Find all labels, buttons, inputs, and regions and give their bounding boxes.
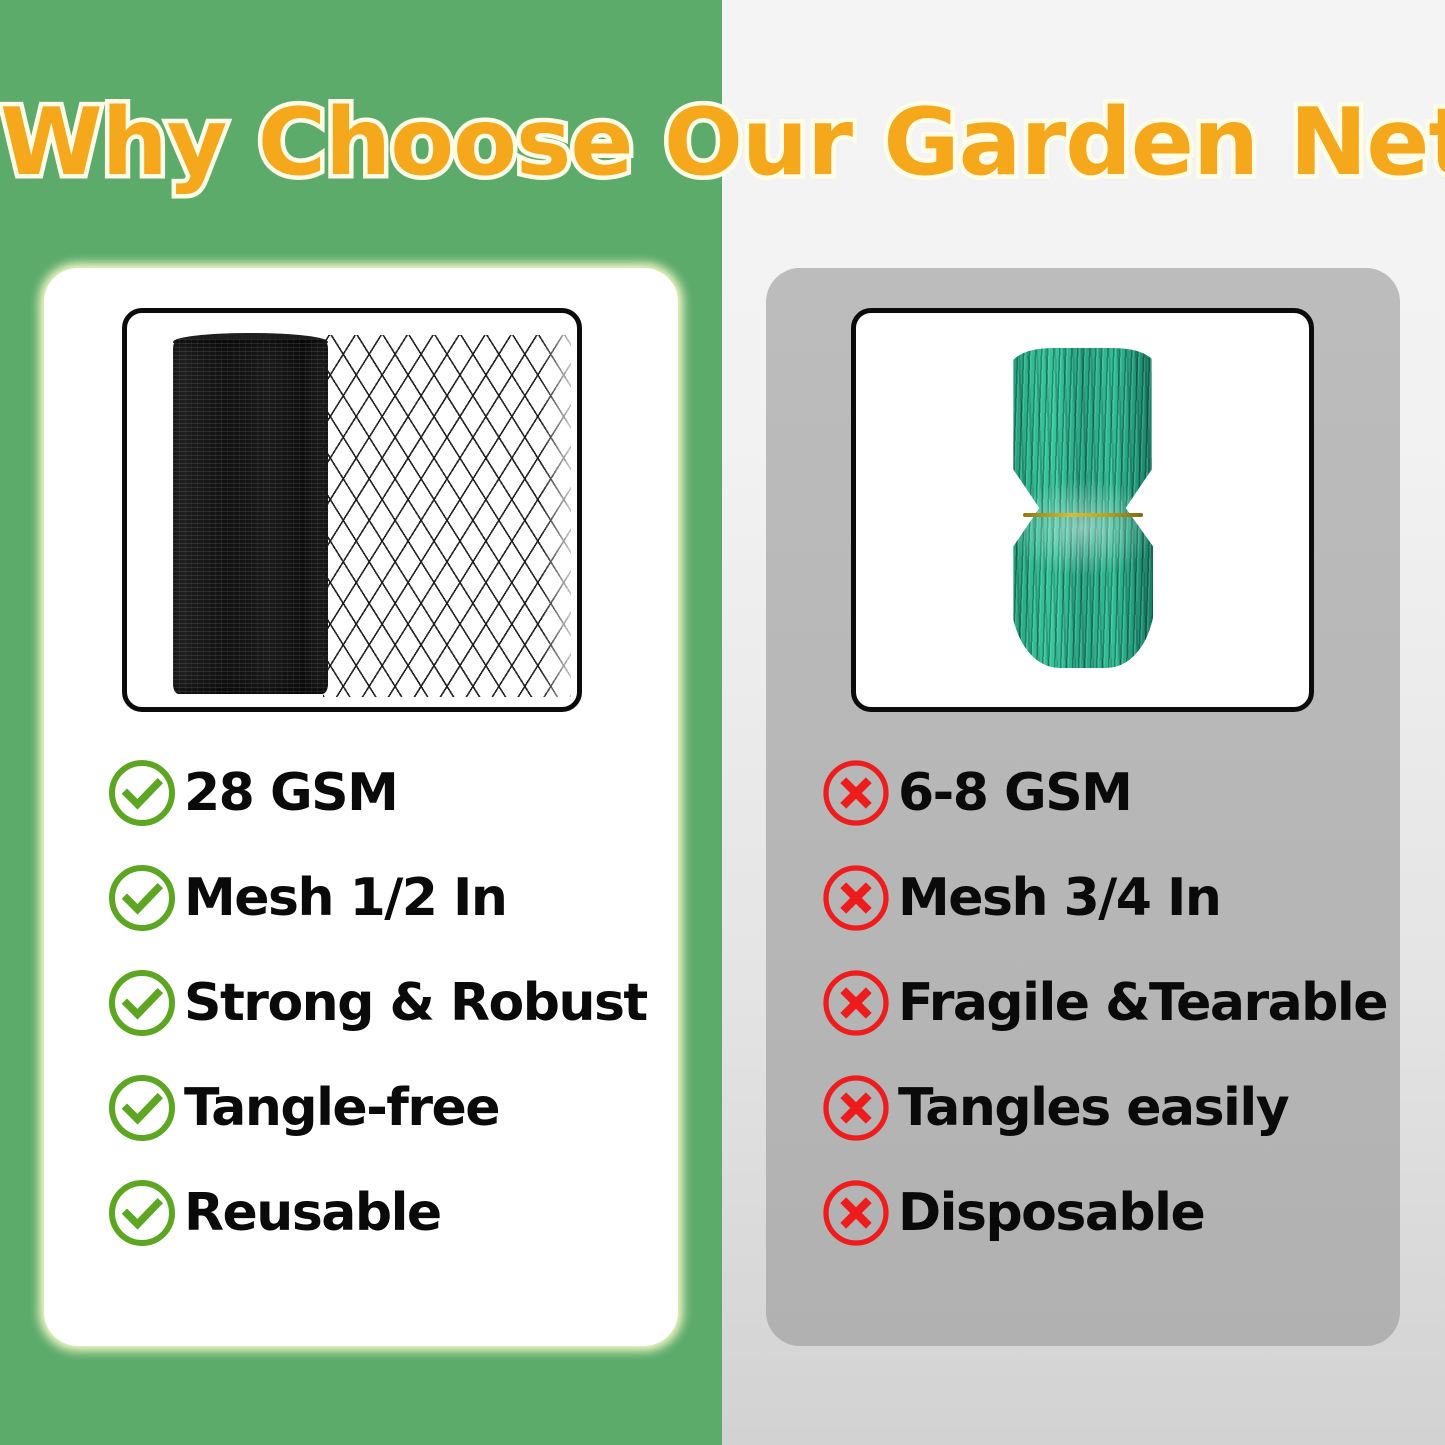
competitor-product-card: 6-8 GSM Mesh 3/4 In Fr bbox=[766, 268, 1400, 1346]
our-product-feature-list: 28 GSM Mesh 1/2 In Str bbox=[106, 740, 666, 1265]
infographic-canvas: Why Choose Our Garden Netting? 28 GSM bbox=[0, 0, 1445, 1445]
cross-circle-icon bbox=[820, 757, 892, 829]
list-item: Fragile &Tearable bbox=[820, 950, 1380, 1055]
check-circle-icon bbox=[106, 1072, 178, 1144]
list-item: Strong & Robust bbox=[106, 950, 666, 1055]
list-item-label: 6-8 GSM bbox=[898, 767, 1131, 819]
list-item: 28 GSM bbox=[106, 740, 666, 845]
check-circle-icon bbox=[106, 967, 178, 1039]
list-item: Reusable bbox=[106, 1160, 666, 1265]
list-item-label: Tangles easily bbox=[898, 1082, 1288, 1134]
list-item: Disposable bbox=[820, 1160, 1380, 1265]
list-item-label: Reusable bbox=[184, 1187, 441, 1239]
list-item: Mesh 1/2 In bbox=[106, 845, 666, 950]
list-item-label: Mesh 1/2 In bbox=[184, 872, 506, 924]
list-item-label: 28 GSM bbox=[184, 767, 397, 819]
black-netting-roll-image bbox=[173, 339, 328, 694]
our-product-image-frame bbox=[122, 308, 582, 712]
black-mesh-fabric-image bbox=[323, 335, 571, 697]
competitor-product-image-frame bbox=[851, 308, 1314, 712]
list-item: Mesh 3/4 In bbox=[820, 845, 1380, 950]
cross-circle-icon bbox=[820, 1072, 892, 1144]
list-item-label: Disposable bbox=[898, 1187, 1204, 1239]
list-item-label: Fragile &Tearable bbox=[898, 977, 1387, 1029]
list-item: Tangles easily bbox=[820, 1055, 1380, 1160]
check-circle-icon bbox=[106, 1177, 178, 1249]
page-title: Why Choose Our Garden Netting? bbox=[0, 88, 1445, 196]
list-item: 6-8 GSM bbox=[820, 740, 1380, 845]
cross-circle-icon bbox=[820, 967, 892, 1039]
green-netting-body bbox=[1011, 348, 1155, 668]
competitor-product-feature-list: 6-8 GSM Mesh 3/4 In Fr bbox=[820, 740, 1380, 1265]
check-circle-icon bbox=[106, 757, 178, 829]
list-item-label: Strong & Robust bbox=[184, 977, 647, 1029]
check-circle-icon bbox=[106, 862, 178, 934]
list-item-label: Mesh 3/4 In bbox=[898, 872, 1220, 924]
cross-circle-icon bbox=[820, 1177, 892, 1249]
green-netting-bundle-image bbox=[856, 313, 1309, 707]
list-item: Tangle-free bbox=[106, 1055, 666, 1160]
list-item-label: Tangle-free bbox=[184, 1082, 499, 1134]
gold-tie-string-icon bbox=[1023, 513, 1143, 517]
cross-circle-icon bbox=[820, 862, 892, 934]
our-product-card: 28 GSM Mesh 1/2 In Str bbox=[44, 268, 678, 1346]
